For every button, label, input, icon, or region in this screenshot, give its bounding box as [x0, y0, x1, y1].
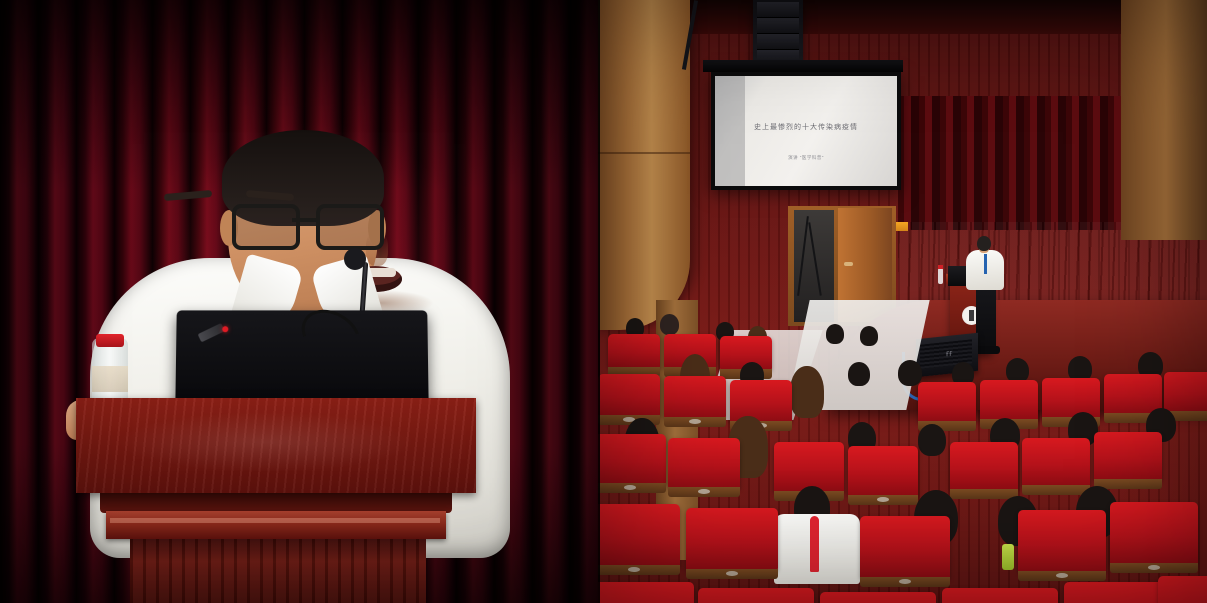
panel-divider — [598, 0, 600, 603]
seat-back-wood — [950, 489, 1018, 499]
right-panel-auditorium: 史上最惨烈的十大传染病疫情 演讲 “医学科普” ғғ — [598, 0, 1207, 603]
auditorium-seat[interactable] — [980, 380, 1038, 420]
auditorium-seat[interactable] — [1094, 432, 1162, 480]
projection-screen: 史上最惨烈的十大传染病疫情 演讲 “医学科普” — [711, 72, 901, 190]
auditorium-seat[interactable] — [950, 442, 1018, 490]
water-bottle-label — [92, 366, 128, 392]
podium — [76, 398, 476, 603]
podium-lip — [106, 511, 446, 539]
auditorium-seat[interactable] — [598, 434, 666, 484]
auditorium-seat[interactable] — [686, 508, 778, 570]
audience-shirt-red-stripe — [810, 516, 819, 572]
auditorium-seat[interactable] — [664, 376, 726, 418]
seat-number-tag — [624, 485, 636, 490]
slide-subtitle: 演讲 “医学科普” — [715, 155, 897, 161]
seat-back-wood — [1022, 485, 1090, 495]
photo-composite: 史上最惨烈的十大传染病疫情 演讲 “医学科普” ғғ — [0, 0, 1207, 603]
auditorium-seat[interactable] — [942, 588, 1058, 603]
seat-number-tag — [1148, 565, 1160, 570]
projection-screen-valance — [703, 60, 903, 72]
auditorium-seat[interactable] — [1164, 372, 1207, 412]
wood-wall-panel-right — [1121, 0, 1207, 240]
podium-lip-highlight — [110, 518, 440, 523]
seat-number-tag — [698, 489, 710, 494]
seat-number-tag — [726, 571, 738, 576]
glasses-lens-right — [316, 204, 384, 250]
auditorium-seat[interactable] — [820, 592, 936, 603]
auditorium-seat[interactable] — [1110, 502, 1198, 564]
seat-number-tag — [1056, 573, 1068, 578]
auditorium-seat[interactable] — [918, 382, 976, 422]
audience-head — [898, 360, 922, 386]
auditorium-seat[interactable] — [598, 582, 694, 603]
auditorium-seat[interactable] — [848, 446, 918, 496]
wood-panel-seam — [598, 152, 690, 154]
audience-head-long-hair — [790, 366, 824, 418]
door-handle-icon — [844, 262, 853, 266]
audience-seating — [598, 300, 1207, 603]
stage-water-bottle-cap — [938, 265, 943, 269]
auditorium-seat[interactable] — [1022, 438, 1090, 486]
seat-number-tag — [689, 419, 701, 424]
speaker-cabinet — [757, 18, 799, 34]
glasses-lens-left — [232, 204, 300, 250]
presenter-eyebrow-left — [164, 190, 212, 201]
glasses-bridge — [292, 218, 316, 222]
stage-water-bottle — [938, 268, 943, 284]
podium-top-surface — [76, 398, 476, 493]
podium-body — [130, 539, 426, 603]
audience-head — [860, 326, 878, 346]
auditorium-seat[interactable] — [774, 442, 844, 492]
seat-number-tag — [877, 497, 889, 502]
audience-head — [918, 424, 946, 456]
stage-presenter-lanyard — [984, 254, 987, 274]
auditorium-seat[interactable] — [668, 438, 740, 488]
audience-head — [848, 362, 870, 386]
slide-title: 史上最惨烈的十大传染病疫情 — [715, 122, 897, 132]
auditorium-seat[interactable] — [598, 504, 680, 566]
auditorium-seat[interactable] — [1104, 374, 1162, 414]
speaker-cabinet — [757, 34, 799, 50]
auditorium-seat[interactable] — [1018, 510, 1106, 572]
audience-head — [660, 314, 679, 335]
seat-number-tag — [628, 567, 640, 572]
podium-molding — [100, 493, 452, 513]
auditorium-seat[interactable] — [608, 334, 660, 368]
auditorium-seat[interactable] — [1158, 576, 1207, 603]
glasses-icon — [228, 204, 380, 244]
podium-sheen — [116, 412, 416, 472]
auditorium-seat[interactable] — [1042, 378, 1100, 418]
projection-screen-surface: 史上最惨烈的十大传染病疫情 演讲 “医学科普” — [715, 76, 897, 186]
stage-presenter-head — [977, 236, 991, 251]
seat-number-tag — [899, 579, 911, 584]
water-bottle-cap — [96, 334, 124, 347]
left-panel-speaker-closeup — [0, 0, 598, 603]
wood-wall-panel-left — [598, 0, 690, 330]
audience-head — [826, 324, 844, 344]
thinkpad-red-dot-icon — [222, 326, 228, 332]
auditorium-seat[interactable] — [598, 374, 660, 416]
audience-green-bottle — [1002, 544, 1014, 570]
podium-body-grain — [130, 539, 426, 603]
thinkpad-logo-icon — [198, 323, 225, 342]
auditorium-seat[interactable] — [730, 380, 792, 422]
microphone-icon — [344, 248, 366, 270]
auditorium-seat[interactable] — [698, 588, 814, 603]
speaker-cabinet — [757, 2, 799, 18]
auditorium-seat[interactable] — [860, 516, 950, 578]
